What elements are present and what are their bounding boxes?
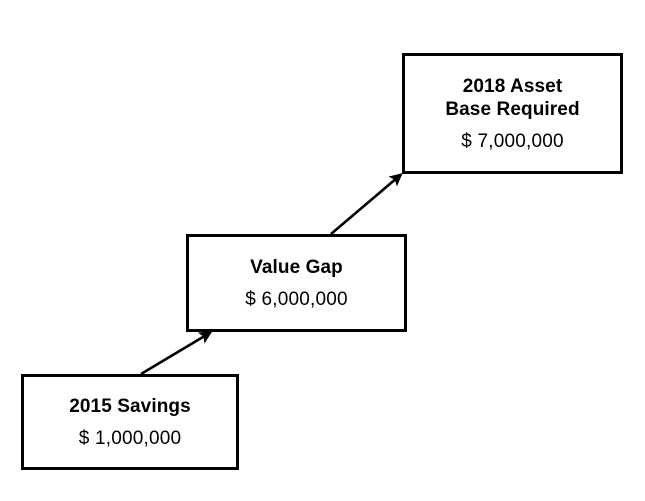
node-title: 2015 Savings bbox=[69, 395, 191, 418]
node-2015-savings[interactable]: 2015 Savings $ 1,000,000 bbox=[21, 374, 239, 470]
node-title: Value Gap bbox=[250, 256, 343, 279]
node-value: $ 6,000,000 bbox=[245, 288, 348, 311]
connector-valuegap-to-assetbase bbox=[331, 175, 401, 235]
connector-savings-to-valuegap bbox=[141, 333, 211, 375]
node-title: 2018 Asset Base Required bbox=[445, 75, 579, 121]
node-value: $ 7,000,000 bbox=[461, 130, 564, 153]
node-2018-asset-base-required[interactable]: 2018 Asset Base Required $ 7,000,000 bbox=[402, 53, 623, 174]
node-value: $ 1,000,000 bbox=[79, 427, 182, 450]
node-value-gap[interactable]: Value Gap $ 6,000,000 bbox=[186, 234, 407, 332]
diagram-canvas: 2015 Savings $ 1,000,000 Value Gap $ 6,0… bbox=[0, 0, 645, 501]
